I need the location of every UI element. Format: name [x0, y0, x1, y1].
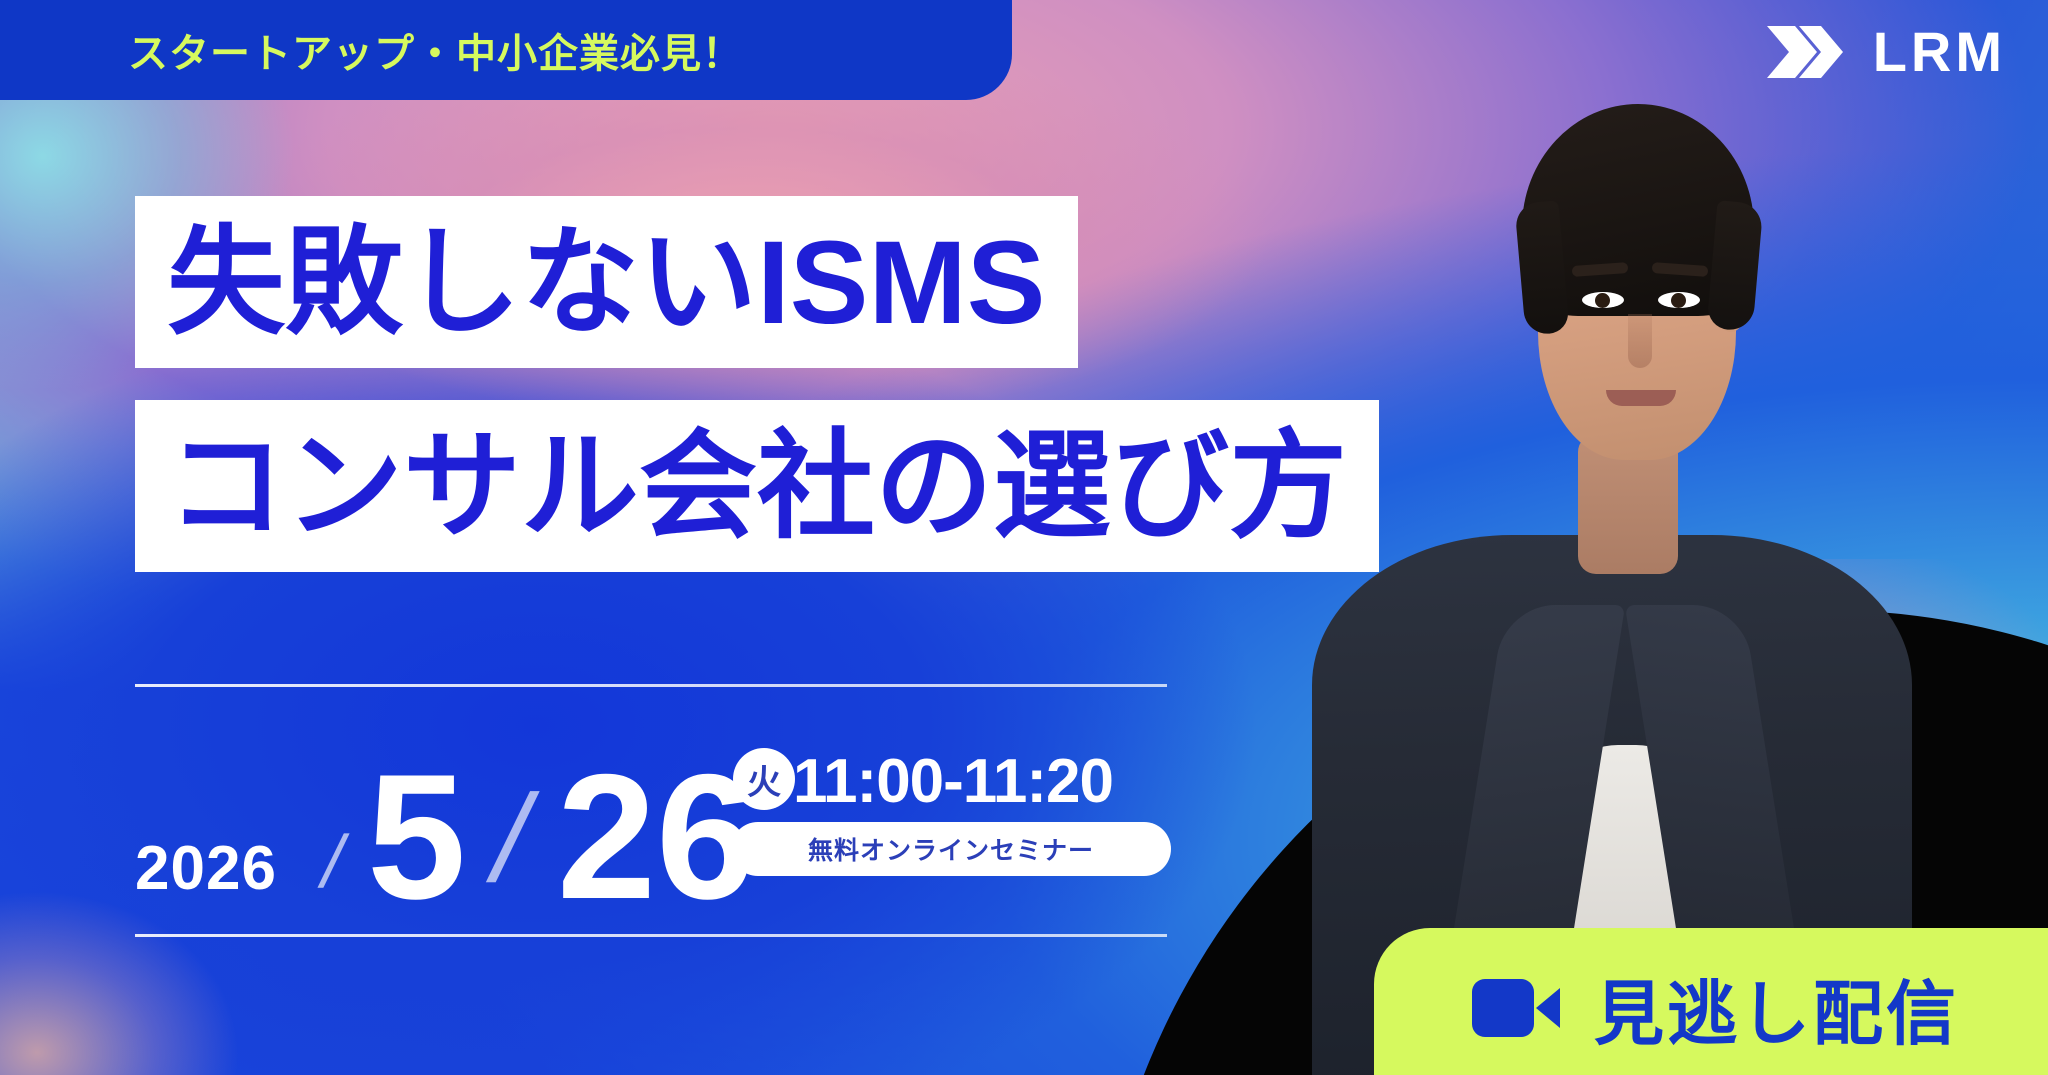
event-year: 2026: [135, 833, 277, 904]
event-datetime: 2026 / 5 / 26 火 11:00-11:20 無料オンラインセミナー: [135, 720, 1195, 920]
presenter-pupil-right: [1671, 293, 1686, 308]
free-webinar-pill: 無料オンラインセミナー: [731, 822, 1171, 876]
seminar-title-line-1: 失敗しないISMS: [135, 196, 1078, 368]
presenter-hair-right: [1707, 200, 1764, 332]
double-chevron-right-icon: [1765, 24, 1851, 80]
seminar-title-line-2: コンサル会社の選び方: [135, 400, 1379, 572]
presenter-photo: [1290, 52, 1930, 1075]
presenter-nose: [1628, 314, 1652, 368]
audience-banner: スタートアップ・中小企業必見！: [0, 0, 1012, 100]
brand-logo[interactable]: LRM: [1765, 24, 2006, 80]
archive-delivery-label: 見逃し配信: [1594, 958, 1959, 1059]
date-separator-2: /: [480, 768, 545, 910]
audience-banner-label: スタートアップ・中小企業必見！: [128, 21, 743, 79]
archive-delivery-badge[interactable]: 見逃し配信: [1374, 928, 2048, 1075]
video-camera-icon: [1472, 979, 1560, 1037]
event-day: 26: [557, 748, 755, 926]
divider-top: [135, 684, 1167, 687]
event-time: 11:00-11:20: [793, 746, 1113, 817]
day-of-week-badge: 火: [733, 748, 795, 810]
presenter-pupil-left: [1595, 293, 1610, 308]
seminar-banner-stage: スタートアップ・中小企業必見！ LRM 失敗しないISMS コンサル会社の選び方…: [0, 0, 2048, 1075]
seminar-title: 失敗しないISMS コンサル会社の選び方: [135, 196, 1379, 572]
event-month: 5: [367, 748, 466, 926]
presenter-mouth: [1606, 390, 1676, 406]
date-separator-1: /: [314, 819, 353, 904]
brand-logo-text: LRM: [1873, 24, 2006, 80]
